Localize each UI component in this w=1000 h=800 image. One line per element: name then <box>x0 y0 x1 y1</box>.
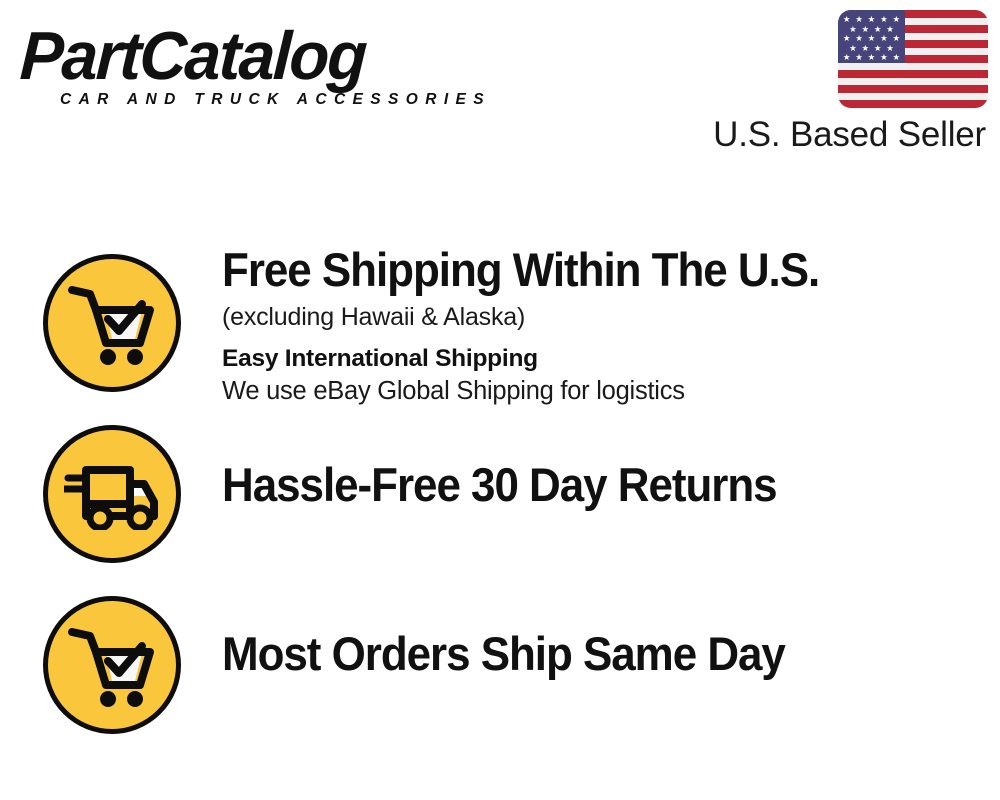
flag-star-row: ★★★★★ <box>838 34 905 43</box>
feature-bold-line: Easy International Shipping <box>222 343 980 374</box>
feature-heading: Free Shipping Within The U.S. <box>222 243 931 297</box>
feature-row: Most Orders Ship Same Day <box>0 590 1000 740</box>
us-flag-icon: ★★★★★ ★★★★ ★★★★★ ★★★★ ★★★★★ <box>838 10 988 108</box>
flag-star-row: ★★★★ <box>838 44 905 53</box>
flag-stripe <box>838 93 988 101</box>
flag-star-row: ★★★★★ <box>838 53 905 62</box>
delivery-truck-icon <box>43 425 181 563</box>
flag-star-row: ★★★★★ <box>838 15 905 24</box>
feature-row: Free Shipping Within The U.S. (excluding… <box>0 243 1000 405</box>
flag-star-row: ★★★★ <box>838 25 905 34</box>
flag-stripe <box>838 63 988 71</box>
feature-text-block: Free Shipping Within The U.S. (excluding… <box>222 243 980 408</box>
brand-logo[interactable]: PartCatalog CAR AND TRUCK ACCESSORIES <box>22 22 492 109</box>
flag-stripe <box>838 78 988 86</box>
page-header: PartCatalog CAR AND TRUCK ACCESSORIES ★★… <box>0 0 1000 170</box>
feature-note: We use eBay Global Shipping for logistic… <box>222 375 980 408</box>
feature-heading: Most Orders Ship Same Day <box>222 627 931 681</box>
feature-text-block: Hassle-Free 30 Day Returns <box>222 458 980 512</box>
feature-text-block: Most Orders Ship Same Day <box>222 627 980 681</box>
shopping-cart-check-icon <box>43 596 181 734</box>
flag-stripe <box>838 100 988 108</box>
feature-heading: Hassle-Free 30 Day Returns <box>222 458 931 512</box>
flag-stripe <box>838 70 988 78</box>
feature-row: Hassle-Free 30 Day Returns <box>0 419 1000 569</box>
flag-canton: ★★★★★ ★★★★ ★★★★★ ★★★★ ★★★★★ <box>838 10 905 63</box>
shopping-cart-check-icon <box>43 254 181 392</box>
brand-wordmark: PartCatalog <box>19 22 474 90</box>
flag-stripe <box>838 85 988 93</box>
feature-subtext: (excluding Hawaii & Alaska) <box>222 301 980 333</box>
us-based-seller-label: U.S. Based Seller <box>713 114 986 156</box>
